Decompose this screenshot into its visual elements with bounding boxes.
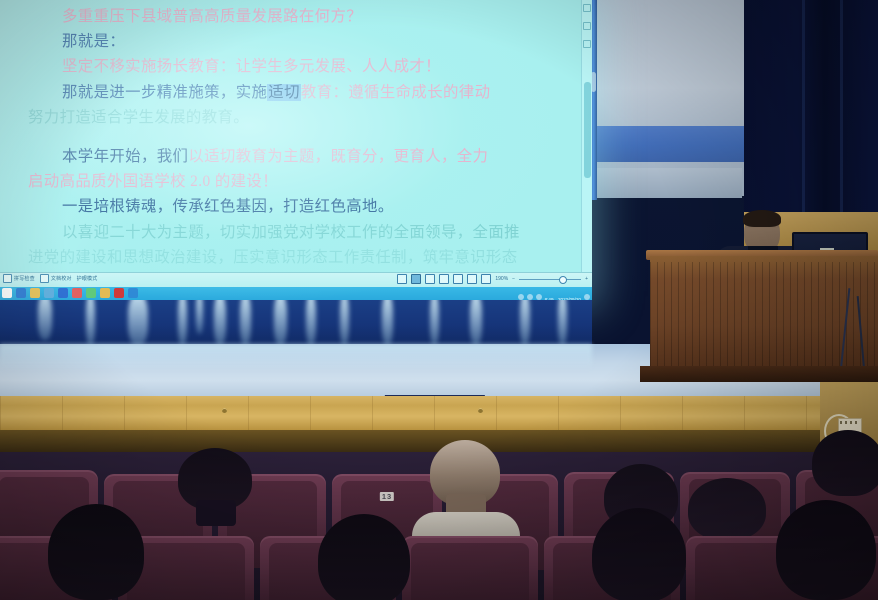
attendee-head — [776, 500, 876, 600]
attendee-head — [318, 514, 410, 600]
slide-line-6-head: 本学年开始，我们 — [62, 148, 188, 165]
side-toolbar[interactable] — [583, 4, 591, 48]
stage-floor-reflection — [0, 344, 592, 370]
audience-seating-area: 13 15 — [0, 452, 878, 600]
slide-line-4-selection[interactable]: 适切 — [267, 84, 301, 101]
auditorium-photo: 多重重压下县域普高高质量发展路在何方？ 那就是： 坚定不移实施扬长教育：让学生多… — [0, 0, 878, 600]
zoom-slider-knob[interactable] — [559, 276, 567, 284]
slide-line-4-tail: 教育：遵循生命成长的律动 — [301, 84, 491, 101]
attendee-head — [812, 430, 878, 496]
presenter-hair — [743, 210, 781, 227]
podium-base — [640, 366, 878, 382]
edge-browser-icon[interactable] — [16, 288, 26, 298]
taskbar-icon-group — [2, 288, 138, 298]
slide-line-4: 那就是进一步精准施策，实施适切教育：遵循生命成长的律动 — [0, 80, 560, 105]
zoom-level-label: 190% — [495, 276, 508, 282]
system-tray: 8:49 2022/09/20 — [518, 288, 590, 300]
spellcheck-icon — [3, 274, 12, 283]
stage-fastener — [478, 408, 483, 413]
outline-view-icon[interactable] — [425, 274, 435, 284]
slide-line-4-head: 那就是进一步精准施策，实施 — [62, 84, 267, 101]
folder-icon[interactable] — [100, 288, 110, 298]
side-wall-blue-band — [596, 126, 748, 162]
slide-sorter-icon[interactable] — [439, 274, 449, 284]
reading-view-icon[interactable] — [453, 274, 463, 284]
slide-line-9: 以喜迎二十大为主题，切实加强党对学校工作的全面领导，全面推 — [0, 220, 560, 245]
wall-outlet-sockets — [840, 421, 858, 424]
zoom-in-button[interactable]: + — [585, 276, 588, 282]
seat — [402, 536, 538, 600]
scrollbar-thumb[interactable] — [584, 82, 591, 178]
normal-view-icon[interactable] — [411, 274, 421, 284]
slide-text-body: 多重重压下县域普高高质量发展路在何方？ 那就是： 坚定不移实施扬长教育：让学生多… — [0, 0, 570, 272]
status-chip-3[interactable]: 护眼模式 — [77, 275, 98, 282]
wps-writer-icon[interactable] — [58, 288, 68, 298]
slide-line-6-tail: 以适切教育为主题，既育分，更育人，全力 — [188, 148, 488, 165]
slide-line-8: 一是培根铸魂，传承红色基因，打造红色高地。 — [0, 194, 560, 219]
cursor-tool-icon[interactable] — [583, 22, 591, 30]
windows-taskbar: 8:49 2022/09/20 — [0, 287, 592, 300]
slide-line-5: 努力打造适合学生发展的教育。 — [0, 105, 560, 130]
attendee-head — [688, 478, 766, 540]
side-wall-panel — [596, 0, 748, 196]
zoom-slider[interactable] — [519, 279, 581, 280]
side-wall-lower-panel — [596, 168, 742, 198]
wechat-icon[interactable] — [86, 288, 96, 298]
attendee-head — [48, 504, 144, 600]
wall-light-spill — [0, 300, 592, 344]
slide-line-6: 本学年开始，我们以适切教育为主题，既育分，更育人，全力 — [0, 144, 560, 169]
podium-wood-grain — [650, 262, 878, 370]
fit-to-window-icon[interactable] — [481, 274, 491, 284]
slide-line-7: 启动高品质外国语学校 2.0 的建设！ — [0, 169, 560, 194]
status-chip-2[interactable]: 文档校对 — [40, 274, 72, 283]
status-chip-3-label: 护眼模式 — [77, 275, 98, 282]
attendee-head — [592, 508, 686, 600]
slide-line-2: 那就是： — [0, 29, 560, 54]
slide-paragraph-gap — [0, 130, 560, 144]
start-icon[interactable] — [2, 288, 12, 298]
proofread-icon — [40, 274, 49, 283]
pen-tool-icon[interactable] — [583, 4, 591, 12]
eye-icon[interactable] — [397, 274, 407, 284]
tray-clock[interactable]: 8:49 2022/09/20 — [545, 288, 581, 300]
file-explorer-icon[interactable] — [30, 288, 40, 298]
status-chip-1-label: 拼写检查 — [14, 275, 35, 282]
seat-number: 13 — [380, 492, 394, 501]
stage-fastener — [222, 408, 227, 413]
slide-line-10: 进党的建设和思想政治建设，压实意识形态工作责任制，筑牢意识形态 — [0, 245, 560, 270]
status-chip-2-label: 文档校对 — [51, 275, 72, 282]
browser-icon[interactable] — [128, 288, 138, 298]
zoom-out-button[interactable]: − — [512, 276, 515, 282]
status-chip-1[interactable]: 拼写检查 — [3, 274, 35, 283]
projection-screen: 多重重压下县域普高高质量发展路在何方？ 那就是： 坚定不移实施扬长教育：让学生多… — [0, 0, 592, 300]
slide-line-1: 多重重压下县域普高高质量发展路在何方？ — [0, 4, 560, 29]
wps-status-bar: 拼写检查 文档校对 护眼模式 190% − + — [0, 272, 592, 288]
slide-line-3: 坚定不移实施扬长教育：让学生多元发展、人人成才！ — [0, 54, 560, 79]
stage-edge-panel-lines — [0, 396, 878, 430]
wps-office-icon[interactable] — [114, 288, 124, 298]
attendee-neck — [196, 500, 236, 526]
stage-curtain — [744, 0, 878, 212]
chart-app-icon[interactable] — [44, 288, 54, 298]
status-bar-right: 190% − + — [397, 274, 588, 284]
status-bar-left: 拼写检查 文档校对 护眼模式 — [3, 274, 97, 283]
settings-tool-icon[interactable] — [583, 40, 591, 48]
photoshop-icon[interactable] — [72, 288, 82, 298]
stage-under-shadow — [0, 430, 878, 452]
annotate-icon[interactable] — [467, 274, 477, 284]
